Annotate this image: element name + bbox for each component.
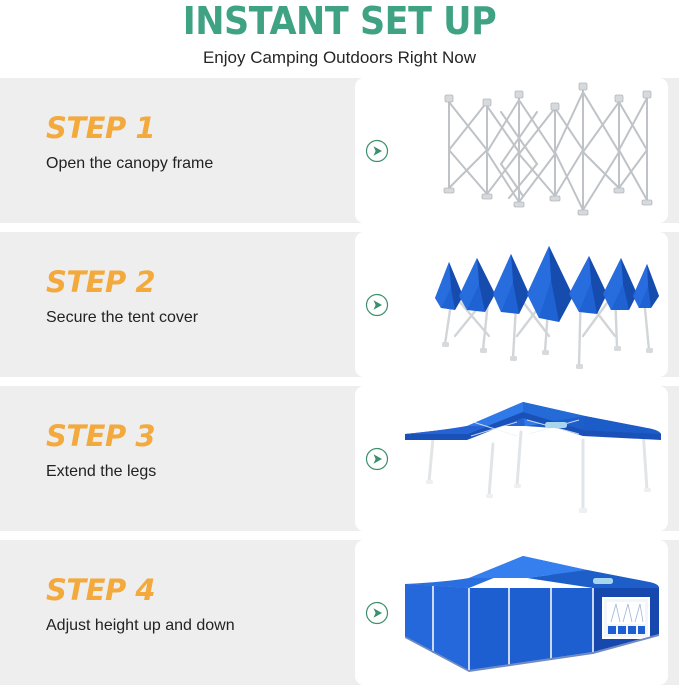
step-media-card [355,540,668,685]
step-number: STEP 2 [46,266,336,299]
canopy-frame-illustration [397,78,668,223]
step-media-card [355,386,668,531]
page-subtitle: Enjoy Camping Outdoors Right Now [0,41,679,68]
step-row: STEP 1 Open the canopy frame [0,78,679,223]
tent-cover-illustration [397,232,668,377]
step-text-block: STEP 2 Secure the tent cover [46,266,336,328]
canopy-sidewalls-illustration [397,540,668,685]
step-number: STEP 4 [46,574,336,607]
step-number: STEP 3 [46,420,336,453]
play-circle-icon [365,139,389,163]
erected-canopy-illustration [397,386,668,531]
step-description: Open the canopy frame [46,145,336,174]
header: INSTANT SET UP Enjoy Camping Outdoors Ri… [0,0,679,78]
step-text-block: STEP 4 Adjust height up and down [46,574,336,636]
step-media-card [355,78,668,223]
step-number: STEP 1 [46,112,336,145]
step-row: STEP 4 Adjust height up and down [0,540,679,685]
step-description: Secure the tent cover [46,299,336,328]
step-row: STEP 2 Secure the tent cover [0,232,679,377]
step-text-block: STEP 1 Open the canopy frame [46,112,336,174]
step-media-card [355,232,668,377]
step-text-block: STEP 3 Extend the legs [46,420,336,482]
play-circle-icon [365,601,389,625]
step-row: STEP 3 Extend the legs [0,386,679,531]
step-description: Adjust height up and down [46,607,336,636]
steps-list: STEP 1 Open the canopy frame [0,78,679,685]
page-title: INSTANT SET UP [27,0,652,41]
step-description: Extend the legs [46,453,336,482]
play-circle-icon [365,447,389,471]
play-circle-icon [365,293,389,317]
instant-set-up-infographic: INSTANT SET UP Enjoy Camping Outdoors Ri… [0,0,679,673]
